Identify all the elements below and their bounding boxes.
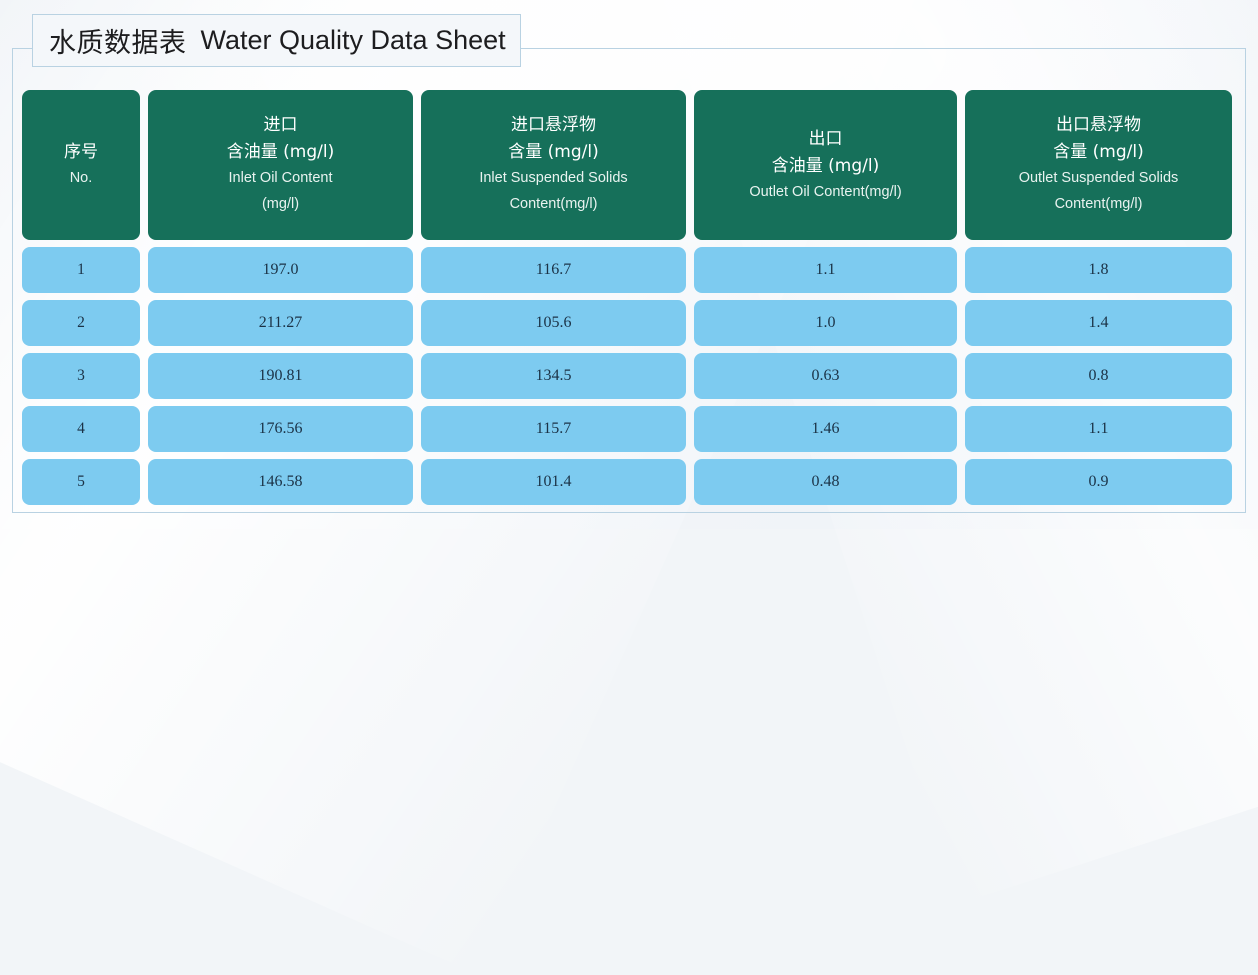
column-header-outlet-ss-cn2: 含量 (mg/l) (1053, 139, 1143, 167)
cell-inlet-oil: 211.27 (148, 300, 413, 346)
cell-inlet-ss: 105.6 (421, 300, 686, 346)
cell-inlet-ss: 115.7 (421, 406, 686, 452)
column-header-outlet-oil-cn1: 出口 (809, 126, 843, 154)
table-row: 3 190.81 134.5 0.63 0.8 (22, 353, 1228, 399)
cell-outlet-oil: 1.1 (694, 247, 957, 293)
cell-outlet-oil: 0.63 (694, 353, 957, 399)
column-header-outlet-oil-en: Outlet Oil Content(mg/l) (749, 181, 901, 204)
column-header-outlet-ss-cn1: 出口悬浮物 (1056, 112, 1141, 140)
column-header-outlet-oil-cn2: 含油量 (mg/l) (772, 153, 879, 181)
column-header-outlet-oil: 出口 含油量 (mg/l) Outlet Oil Content(mg/l) (694, 90, 957, 240)
cell-no: 3 (22, 353, 140, 399)
cell-outlet-ss: 1.8 (965, 247, 1232, 293)
cell-outlet-oil: 0.48 (694, 459, 957, 505)
cell-outlet-oil: 1.46 (694, 406, 957, 452)
column-header-inlet-oil-cn2: 含油量 (mg/l) (227, 139, 334, 167)
page-title-en: Water Quality Data Sheet (201, 25, 506, 56)
cell-outlet-oil: 1.0 (694, 300, 957, 346)
cell-inlet-ss: 134.5 (421, 353, 686, 399)
column-header-inlet-ss-cn1: 进口悬浮物 (511, 112, 596, 140)
cell-outlet-ss: 0.9 (965, 459, 1232, 505)
cell-inlet-ss: 101.4 (421, 459, 686, 505)
column-header-inlet-suspended-solids: 进口悬浮物 含量 (mg/l) Inlet Suspended Solids C… (421, 90, 686, 240)
page-title: 水质数据表 Water Quality Data Sheet (32, 14, 521, 67)
table-row: 1 197.0 116.7 1.1 1.8 (22, 247, 1228, 293)
column-header-inlet-ss-unit: Content(mg/l) (510, 191, 598, 219)
column-header-inlet-ss-en: Inlet Suspended Solids (479, 167, 627, 190)
table-header-row: 序号 No. 进口 含油量 (mg/l) Inlet Oil Content (… (22, 90, 1228, 240)
page-title-cn: 水质数据表 (49, 21, 187, 60)
cell-no: 2 (22, 300, 140, 346)
table-row: 5 146.58 101.4 0.48 0.9 (22, 459, 1228, 505)
column-header-outlet-ss-unit: Content(mg/l) (1055, 191, 1143, 219)
cell-no: 1 (22, 247, 140, 293)
column-header-inlet-oil-en: Inlet Oil Content (229, 167, 333, 190)
column-header-inlet-oil: 进口 含油量 (mg/l) Inlet Oil Content (mg/l) (148, 90, 413, 240)
cell-outlet-ss: 1.1 (965, 406, 1232, 452)
cell-inlet-oil: 190.81 (148, 353, 413, 399)
column-header-inlet-oil-unit: (mg/l) (262, 191, 299, 219)
cell-outlet-ss: 1.4 (965, 300, 1232, 346)
cell-inlet-oil: 197.0 (148, 247, 413, 293)
cell-no: 4 (22, 406, 140, 452)
cell-outlet-ss: 0.8 (965, 353, 1232, 399)
column-header-inlet-oil-cn1: 进口 (264, 112, 298, 140)
cell-inlet-ss: 116.7 (421, 247, 686, 293)
water-quality-table: 序号 No. 进口 含油量 (mg/l) Inlet Oil Content (… (22, 90, 1228, 505)
table-row: 2 211.27 105.6 1.0 1.4 (22, 300, 1228, 346)
cell-no: 5 (22, 459, 140, 505)
column-header-no-en: No. (70, 167, 93, 190)
column-header-outlet-suspended-solids: 出口悬浮物 含量 (mg/l) Outlet Suspended Solids … (965, 90, 1232, 240)
column-header-no: 序号 No. (22, 90, 140, 240)
cell-inlet-oil: 176.56 (148, 406, 413, 452)
column-header-outlet-ss-en: Outlet Suspended Solids (1019, 167, 1179, 190)
column-header-no-cn: 序号 (64, 139, 98, 167)
table-row: 4 176.56 115.7 1.46 1.1 (22, 406, 1228, 452)
cell-inlet-oil: 146.58 (148, 459, 413, 505)
column-header-inlet-ss-cn2: 含量 (mg/l) (508, 139, 598, 167)
